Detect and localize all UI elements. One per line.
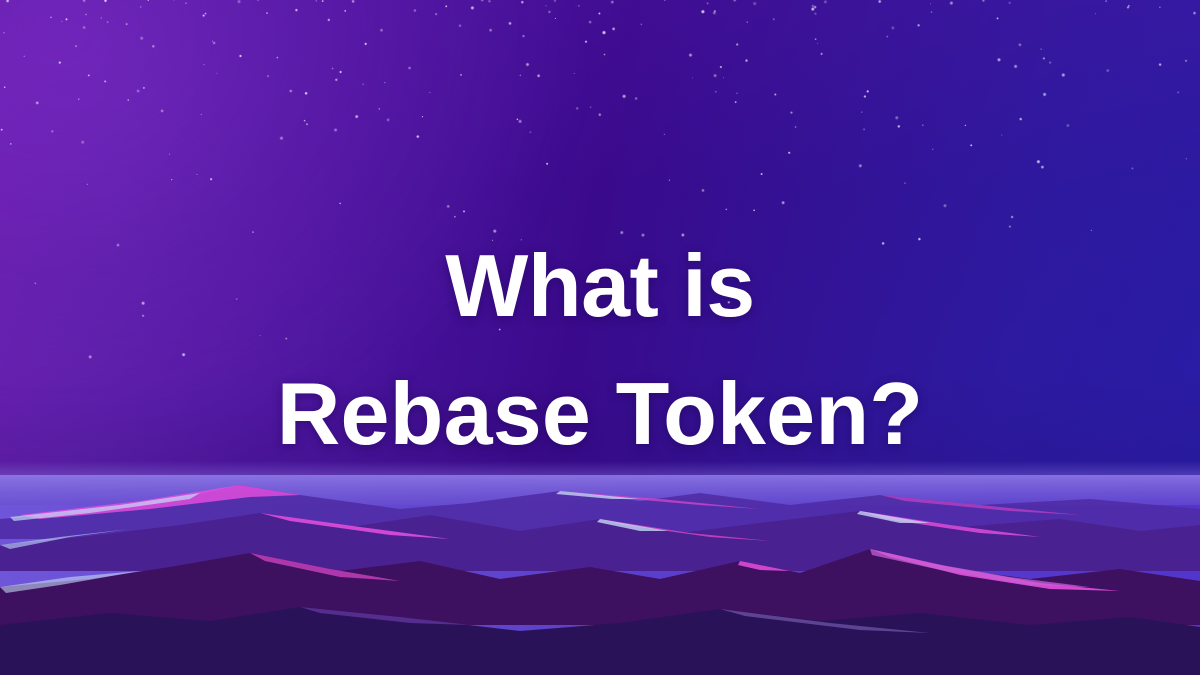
star <box>1040 165 1044 169</box>
star <box>585 40 588 43</box>
star <box>106 21 109 24</box>
star <box>141 301 145 305</box>
star <box>610 0 614 4</box>
hero-banner: What is Rebase Token? <box>0 0 1200 675</box>
star <box>1014 64 1018 68</box>
star <box>35 101 39 105</box>
star <box>413 9 416 12</box>
star <box>922 124 924 126</box>
star <box>736 92 737 93</box>
star <box>34 282 36 284</box>
star <box>522 34 525 37</box>
star <box>1185 59 1188 62</box>
star <box>555 18 557 20</box>
star <box>598 113 602 117</box>
star <box>790 111 793 114</box>
star <box>339 202 341 204</box>
star <box>706 2 709 5</box>
star <box>817 42 819 44</box>
star <box>553 0 556 2</box>
star <box>529 131 532 134</box>
star <box>136 89 140 93</box>
star <box>725 208 727 210</box>
star <box>1018 43 1022 47</box>
star <box>289 89 293 93</box>
star <box>463 210 466 213</box>
star <box>669 179 671 181</box>
star <box>982 0 985 2</box>
star <box>266 75 269 78</box>
star <box>1036 160 1040 164</box>
star <box>295 8 298 11</box>
star <box>1040 48 1042 50</box>
star <box>773 18 776 21</box>
star <box>351 0 355 3</box>
star <box>930 3 932 5</box>
star <box>811 4 814 7</box>
star <box>252 231 254 233</box>
star <box>140 6 142 8</box>
star <box>598 12 601 15</box>
star <box>493 229 497 233</box>
star <box>100 17 102 19</box>
star <box>446 205 450 209</box>
star <box>210 178 213 181</box>
star <box>516 118 518 120</box>
star <box>1131 167 1134 170</box>
star <box>1008 225 1011 228</box>
star <box>104 80 107 83</box>
star <box>237 0 241 4</box>
star <box>65 18 68 21</box>
star <box>380 28 384 32</box>
star <box>408 66 412 70</box>
star <box>142 314 145 317</box>
star <box>344 10 346 12</box>
star <box>897 125 900 128</box>
star <box>602 30 606 34</box>
star <box>727 301 730 304</box>
star <box>185 2 187 4</box>
star <box>458 24 462 28</box>
star <box>692 77 694 79</box>
star <box>321 0 323 2</box>
star <box>943 204 947 208</box>
star <box>774 93 777 96</box>
star <box>266 12 268 14</box>
star <box>760 173 763 176</box>
star <box>169 153 170 154</box>
star <box>1042 57 1045 60</box>
star <box>259 335 260 336</box>
star <box>78 98 80 100</box>
star <box>701 10 705 14</box>
star <box>152 45 156 49</box>
star <box>620 231 624 235</box>
star <box>50 16 52 18</box>
star <box>10 143 12 145</box>
star <box>88 355 92 359</box>
star <box>104 0 108 2</box>
star <box>147 0 149 1</box>
stars-group <box>0 0 1196 407</box>
star <box>917 24 920 27</box>
star <box>895 116 899 120</box>
star <box>116 243 120 247</box>
star <box>88 74 91 77</box>
star <box>794 126 796 128</box>
star <box>489 28 493 32</box>
star <box>355 115 359 119</box>
star <box>820 52 823 55</box>
star <box>445 5 447 7</box>
star <box>1066 124 1070 128</box>
star <box>422 116 424 118</box>
star <box>460 74 463 77</box>
star <box>663 133 665 135</box>
star <box>81 140 85 144</box>
star <box>996 17 999 20</box>
star <box>546 162 549 165</box>
star <box>306 123 309 126</box>
star <box>1159 6 1161 8</box>
star <box>891 26 895 30</box>
star <box>334 128 338 132</box>
star <box>285 337 288 340</box>
star <box>82 0 86 2</box>
star <box>964 124 966 126</box>
star <box>521 1 524 4</box>
star <box>1126 6 1129 9</box>
star <box>641 233 645 237</box>
star <box>0 128 3 131</box>
star <box>520 239 522 241</box>
star <box>1010 215 1013 218</box>
star <box>1001 134 1002 135</box>
star <box>1177 91 1180 94</box>
star <box>904 182 906 184</box>
star <box>578 5 580 7</box>
star <box>3 32 5 34</box>
star <box>429 92 431 94</box>
star <box>61 21 63 23</box>
star <box>519 74 521 76</box>
star <box>140 36 144 40</box>
star <box>1042 92 1046 96</box>
star <box>746 21 748 23</box>
star <box>713 74 717 78</box>
star <box>143 87 146 90</box>
star <box>1008 1 1011 4</box>
star <box>196 174 198 176</box>
star <box>173 0 175 1</box>
star <box>51 130 54 133</box>
star <box>23 55 25 57</box>
star <box>723 77 725 79</box>
star <box>378 108 380 110</box>
star <box>745 59 748 62</box>
star <box>932 148 933 149</box>
star <box>575 107 579 111</box>
star <box>548 10 551 13</box>
star <box>861 111 863 113</box>
star <box>203 64 205 66</box>
star <box>216 73 217 74</box>
star <box>518 119 522 123</box>
mountain-landscape <box>0 475 1200 675</box>
star <box>664 0 666 1</box>
star <box>603 53 605 55</box>
star <box>75 45 77 47</box>
star <box>327 18 330 21</box>
star <box>508 22 512 26</box>
star <box>814 12 817 15</box>
star <box>918 237 921 240</box>
star <box>257 0 259 1</box>
star <box>335 78 338 81</box>
star <box>239 54 242 57</box>
star <box>545 5 547 7</box>
star <box>814 38 816 40</box>
star <box>612 27 616 31</box>
star <box>303 120 305 122</box>
star <box>386 118 390 122</box>
star <box>1061 73 1065 77</box>
star <box>384 82 386 84</box>
star <box>200 114 201 115</box>
star <box>204 12 206 14</box>
star <box>1185 158 1187 160</box>
star <box>127 99 129 101</box>
star <box>498 328 500 330</box>
star <box>182 353 186 357</box>
star <box>634 97 638 101</box>
star <box>640 23 642 25</box>
star <box>212 41 215 44</box>
star <box>688 53 692 57</box>
star <box>781 201 785 205</box>
star <box>82 26 86 30</box>
star <box>1193 11 1197 15</box>
star <box>866 90 869 93</box>
star <box>492 240 494 242</box>
star <box>125 23 128 26</box>
star <box>949 1 953 5</box>
star <box>863 95 866 98</box>
star <box>1091 230 1093 232</box>
star <box>279 136 283 140</box>
star <box>573 73 575 75</box>
star <box>171 179 173 181</box>
star <box>315 0 317 2</box>
star <box>331 67 333 69</box>
star <box>753 1 757 5</box>
star <box>304 92 307 95</box>
star <box>4 86 6 88</box>
star <box>712 11 716 15</box>
star <box>1095 13 1096 14</box>
star <box>798 405 800 407</box>
star <box>878 0 882 3</box>
star <box>886 35 889 38</box>
star <box>823 0 827 4</box>
star <box>362 83 364 85</box>
star <box>480 0 484 2</box>
star <box>1049 61 1052 64</box>
star <box>930 11 932 13</box>
star <box>681 233 685 237</box>
star <box>788 151 791 154</box>
star <box>997 58 1001 62</box>
star <box>881 242 884 245</box>
star <box>58 61 61 64</box>
star <box>863 128 866 131</box>
star <box>488 0 492 3</box>
star <box>276 56 278 58</box>
star <box>86 183 88 185</box>
star <box>734 101 736 103</box>
star <box>733 0 737 2</box>
star <box>753 209 755 211</box>
star <box>364 42 367 45</box>
star <box>715 90 717 92</box>
star <box>622 94 626 98</box>
star <box>1019 117 1022 120</box>
star <box>537 74 541 78</box>
star <box>160 109 164 113</box>
star <box>235 298 238 301</box>
star <box>6 0 10 3</box>
star <box>435 13 438 16</box>
star <box>970 144 973 147</box>
star <box>339 71 342 74</box>
star <box>590 106 592 108</box>
star <box>85 13 87 15</box>
star <box>1158 63 1161 66</box>
star <box>588 20 592 24</box>
star <box>416 135 420 139</box>
star <box>736 43 739 46</box>
star <box>202 14 205 17</box>
star <box>719 66 722 69</box>
star <box>470 6 474 10</box>
star <box>858 164 862 168</box>
star <box>1106 69 1110 73</box>
star <box>1105 0 1107 2</box>
star <box>701 189 705 193</box>
star <box>525 62 529 66</box>
star <box>454 216 456 218</box>
